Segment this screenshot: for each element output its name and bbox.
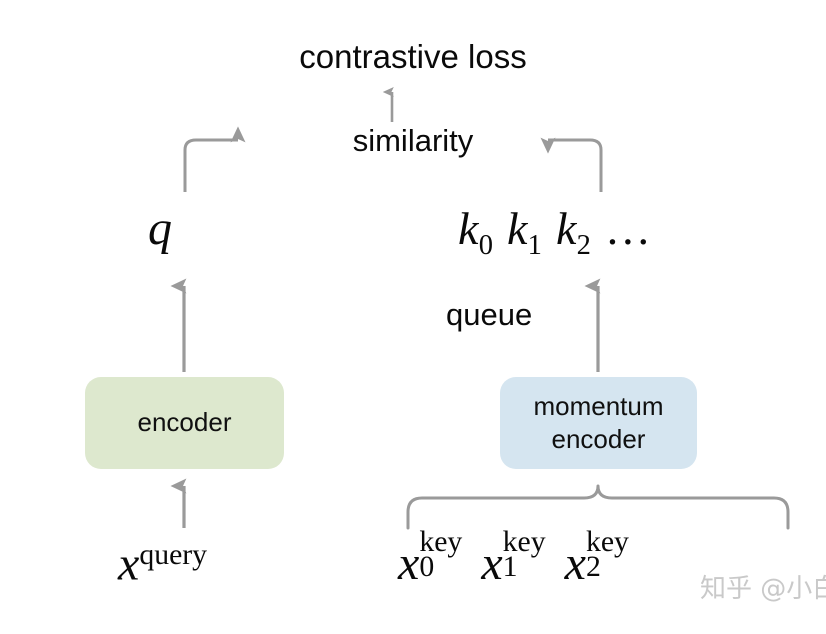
- x-key-1: xkey1: [481, 540, 502, 588]
- watermark: 知乎 @小白: [700, 568, 826, 605]
- x-query-input-label: xquery: [118, 540, 207, 588]
- x-key-2: xkey2: [565, 540, 586, 588]
- k2-subscript: 2: [577, 230, 591, 261]
- curly-brace-icon: [408, 486, 788, 528]
- encoder-box-label: encoder: [138, 406, 232, 439]
- x-key-1-base: x: [481, 537, 502, 590]
- k2-base: k: [556, 203, 576, 254]
- encoder-box[interactable]: encoder: [85, 377, 284, 469]
- x-key-inputs-label: xkey0xkey1xkey2: [398, 540, 586, 588]
- k1-base: k: [507, 203, 527, 254]
- k1-subscript: 1: [528, 230, 542, 261]
- x-key-2-subscript: 2: [586, 552, 601, 582]
- x-query-superscript: query: [139, 538, 207, 571]
- k0-subscript: 0: [479, 230, 493, 261]
- k0-base: k: [458, 203, 478, 254]
- queue-label: queue: [446, 299, 532, 330]
- q-vector-label: q: [148, 205, 172, 253]
- momentum-encoder-box[interactable]: momentumencoder: [500, 377, 697, 469]
- x-key-0: xkey0: [398, 540, 419, 588]
- momentum-encoder-line2: encoder: [552, 424, 646, 454]
- x-key-2-base: x: [565, 537, 586, 590]
- momentum-encoder-line1: momentum: [533, 391, 663, 421]
- contrastive-loss-label: contrastive loss: [0, 40, 826, 73]
- x-key-1-subscript: 1: [503, 552, 518, 582]
- diagram-canvas: contrastive loss similarity q k0k1k2… qu…: [0, 0, 826, 634]
- x-key-0-subscript: 0: [419, 552, 434, 582]
- k-ellipsis: …: [605, 203, 653, 254]
- x-key-0-base: x: [398, 537, 419, 590]
- x-query-base: x: [118, 537, 139, 590]
- similarity-label: similarity: [0, 125, 826, 156]
- momentum-encoder-box-label: momentumencoder: [533, 390, 663, 457]
- k-vectors-label: k0k1k2…: [458, 206, 653, 260]
